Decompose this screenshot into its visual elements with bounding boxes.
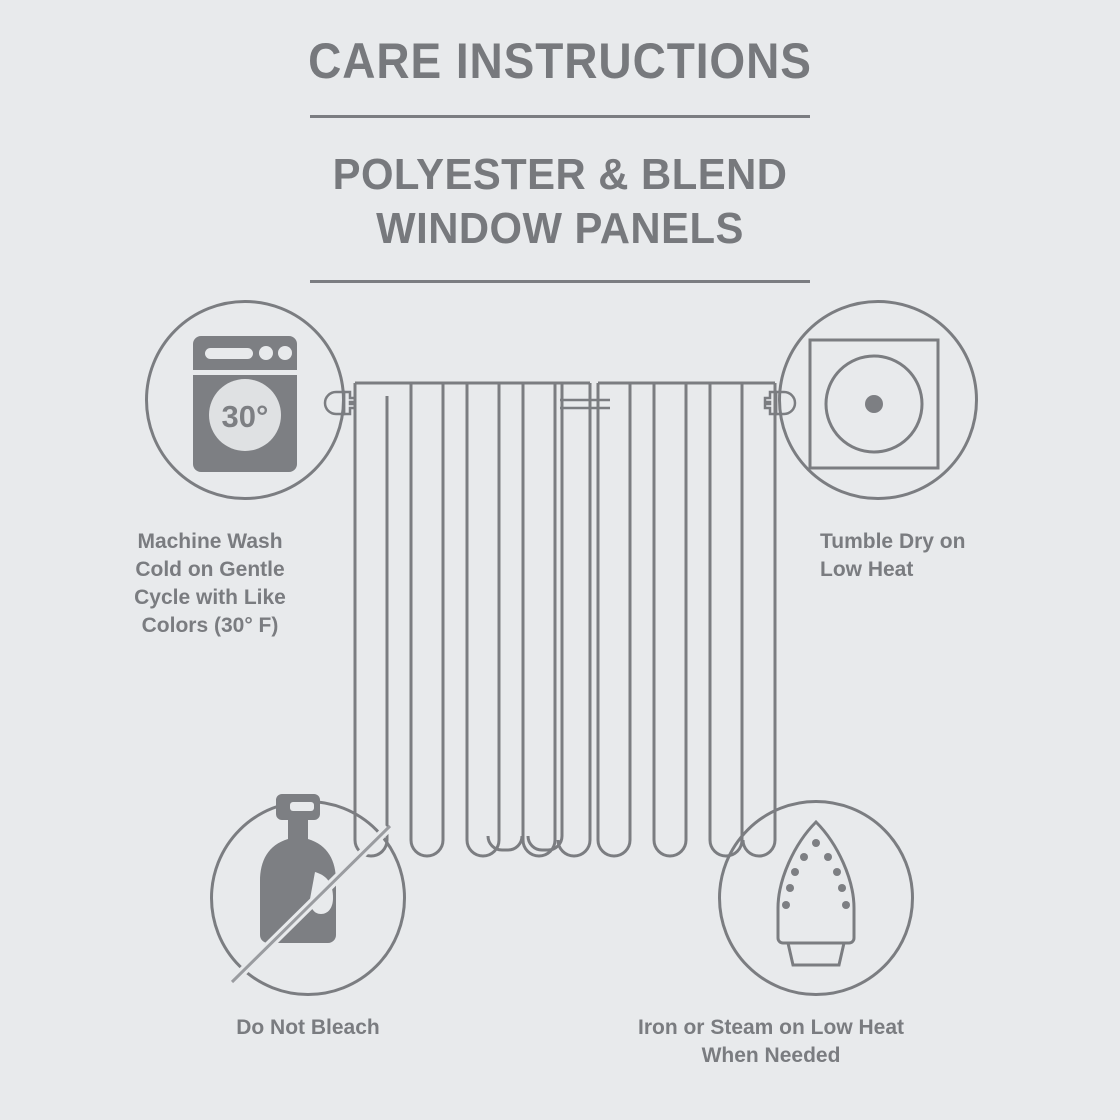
caption-machine-wash: Machine Wash Cold on Gentle Cycle with L…: [85, 528, 335, 640]
caption-tumble-dry: Tumble Dry on Low Heat: [820, 528, 1080, 584]
symbol-circle-tumble-dry: [778, 300, 978, 500]
caption-do-not-bleach: Do Not Bleach: [158, 1014, 458, 1042]
divider-top: [310, 115, 810, 118]
curtain-panel-right: [598, 383, 775, 856]
header-title-block: CARE INSTRUCTIONS: [0, 34, 1120, 118]
curtain-panel-left: [355, 383, 590, 856]
header-subtitle-block: POLYESTER & BLEND WINDOW PANELS: [0, 148, 1120, 283]
symbol-circle-machine-wash: [145, 300, 345, 500]
caption-iron: Iron or Steam on Low Heat When Needed: [576, 1014, 966, 1070]
symbol-circle-iron: [718, 800, 914, 996]
divider-bottom: [310, 280, 810, 283]
curtain-rod: [325, 392, 795, 414]
care-instructions-infographic: CARE INSTRUCTIONS POLYESTER & BLEND WIND…: [0, 0, 1120, 1120]
page-subtitle: POLYESTER & BLEND WINDOW PANELS: [28, 148, 1092, 255]
symbol-circle-do-not-bleach: [210, 800, 406, 996]
page-title: CARE INSTRUCTIONS: [45, 34, 1075, 88]
